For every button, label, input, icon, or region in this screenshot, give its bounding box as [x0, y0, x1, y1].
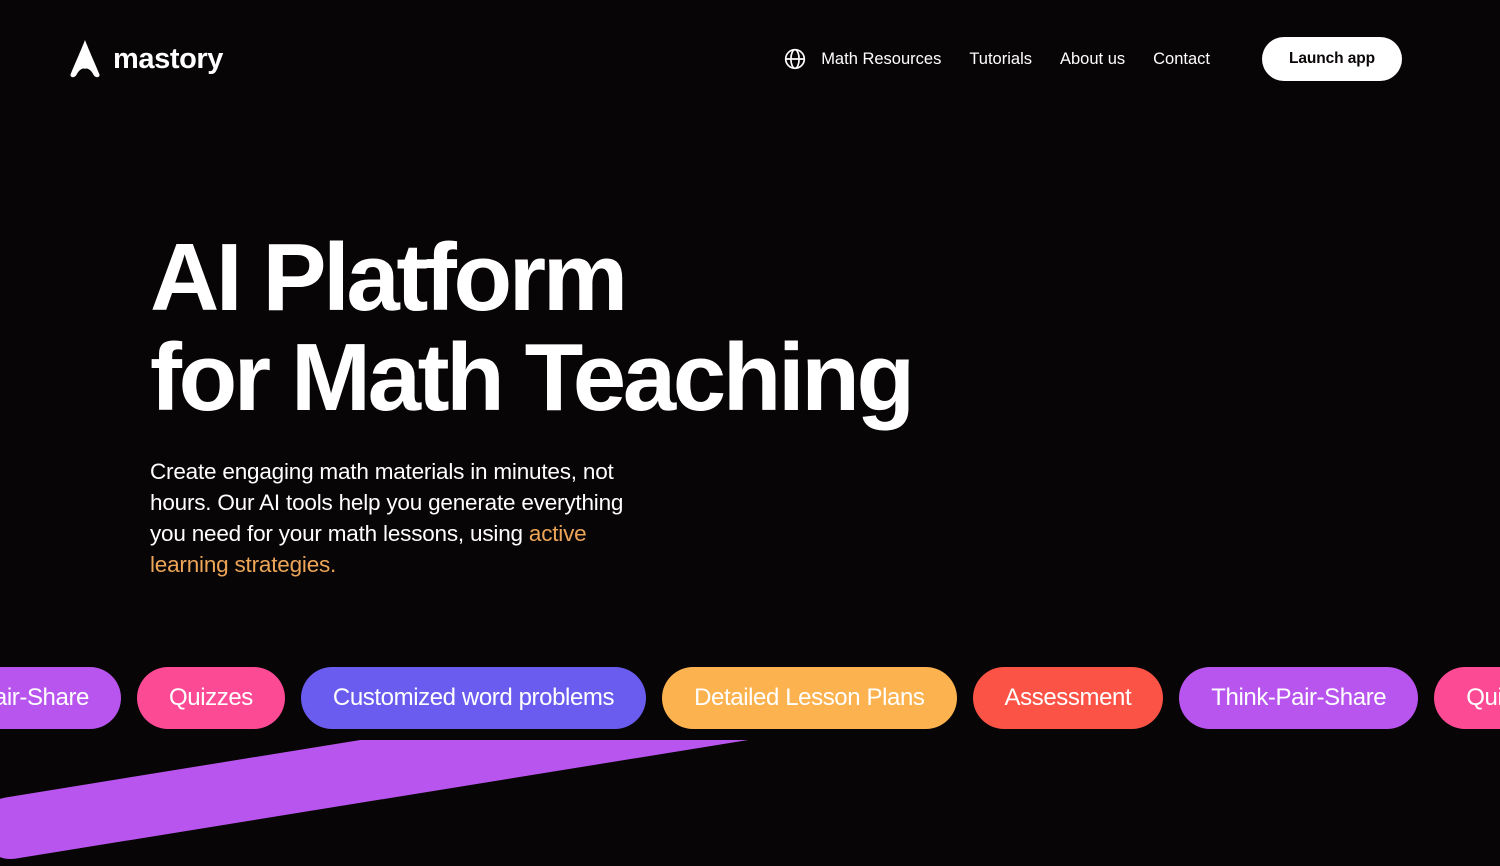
pill-quizzes[interactable]: Quizzes [1434, 667, 1500, 729]
hero-section: AI Platform for Math Teaching Create eng… [150, 228, 1050, 581]
pill-quizzes[interactable]: Quizzes [137, 667, 285, 729]
pill-think-pair-share[interactable]: Think-Pair-Share [0, 667, 121, 729]
nav-link-math-resources[interactable]: Math Resources [821, 45, 941, 74]
rocket-arrowhead-icon [70, 40, 100, 78]
nav-link-tutorials[interactable]: Tutorials [969, 45, 1032, 74]
pill-customized-word-problems[interactable]: Customized word problems [301, 667, 646, 729]
pill-carousel[interactable]: Think-Pair-ShareQuizzesCustomized word p… [0, 667, 1382, 729]
pill-think-pair-share[interactable]: Think-Pair-Share [1179, 667, 1418, 729]
nav-link-about-us[interactable]: About us [1060, 45, 1125, 74]
globe-icon[interactable] [784, 48, 806, 70]
pill-detailed-lesson-plans[interactable]: Detailed Lesson Plans [662, 667, 956, 729]
launch-app-button[interactable]: Launch app [1262, 37, 1402, 81]
main-nav: Math Resources Tutorials About us Contac… [784, 37, 1402, 81]
pill-assessment[interactable]: Assessment [973, 667, 1164, 729]
hero-subtitle: Create engaging math materials in minute… [150, 456, 650, 581]
site-header: mastory Math Resources Tutorials About u… [0, 0, 1500, 118]
decoration-layer [0, 740, 1500, 866]
brand-name: mastory [113, 45, 223, 74]
rotated-pill-decoration [0, 740, 952, 864]
brand-logo[interactable]: mastory [70, 40, 223, 78]
page-title: AI Platform for Math Teaching [150, 228, 1050, 428]
nav-link-contact[interactable]: Contact [1153, 45, 1210, 74]
